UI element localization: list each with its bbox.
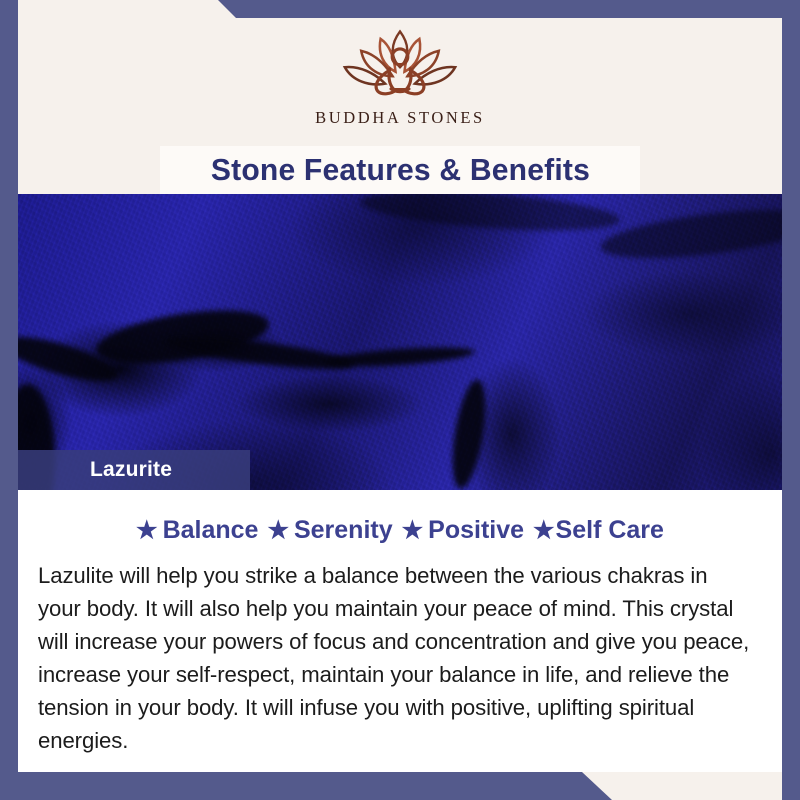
star-icon: ★ — [402, 519, 424, 543]
brand-header: BUDDHA STONES — [18, 18, 782, 146]
benefit-item: ★ Serenity — [267, 516, 392, 545]
benefit-item: ★ Self Care — [533, 516, 664, 545]
stone-texture-overlay — [0, 194, 800, 490]
star-icon: ★ — [533, 519, 555, 543]
benefit-label: Positive — [428, 516, 524, 545]
title-banner: Stone Features & Benefits — [160, 146, 640, 194]
description-text: Lazulite will help you strike a balance … — [38, 559, 751, 757]
stone-name-tag: Lazurite — [18, 450, 250, 490]
benefit-label: Balance — [163, 516, 259, 545]
stone-name-label: Lazurite — [90, 458, 172, 482]
brand-name: BUDDHA STONES — [315, 108, 485, 128]
frame-border-right — [782, 0, 800, 800]
benefit-label: Self Care — [556, 516, 664, 545]
star-icon: ★ — [267, 519, 289, 543]
benefit-label: Serenity — [294, 516, 393, 545]
page-title: Stone Features & Benefits — [210, 152, 589, 188]
frame-border-top — [0, 0, 800, 18]
benefit-item: ★ Balance — [136, 516, 258, 545]
benefit-item: ★ Positive — [402, 516, 524, 545]
frame-border-left — [0, 0, 18, 800]
poster-canvas: BUDDHA STONES Stone Features & Benefits … — [0, 0, 800, 800]
stone-photo — [0, 194, 800, 490]
star-icon: ★ — [136, 519, 158, 543]
lotus-meditation-figure-icon — [325, 24, 475, 106]
content-panel: ★ Balance ★ Serenity ★ Positive ★ Self C… — [18, 490, 782, 772]
benefits-row: ★ Balance ★ Serenity ★ Positive ★ Self C… — [38, 516, 762, 545]
